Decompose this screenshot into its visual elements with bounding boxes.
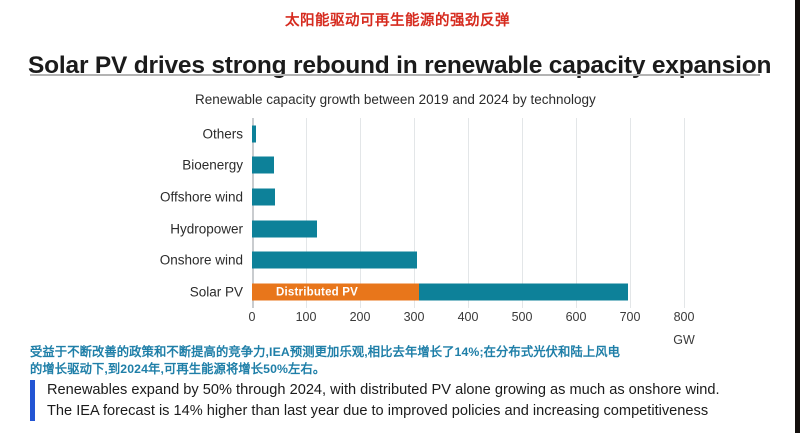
bar-segment-label: Distributed PV — [276, 286, 358, 298]
chinese-note: 受益于不断改善的政策和不断提高的竞争力,IEA预测更加乐观,相比去年增长了14%… — [30, 344, 620, 378]
callout-line-2: The IEA forecast is 14% higher than last… — [47, 401, 770, 422]
bar-segment-main[interactable] — [252, 220, 317, 237]
x-tick-label-300: 300 — [404, 310, 425, 324]
chart-plot-area: OthersBioenergyOffshore windHydropowerOn… — [252, 118, 684, 308]
chinese-headline: 太阳能驱动可再生能源的强劲反弹 — [0, 12, 795, 30]
category-label-onshore-wind: Onshore wind — [160, 253, 243, 268]
x-tick-label-100: 100 — [296, 310, 317, 324]
x-tick-label-500: 500 — [512, 310, 533, 324]
x-tick-label-400: 400 — [458, 310, 479, 324]
bar-segment-main[interactable] — [252, 125, 256, 142]
category-label-offshore-wind: Offshore wind — [160, 190, 243, 205]
bar-hydropower[interactable] — [252, 220, 317, 237]
title-divider — [30, 74, 760, 76]
bar-segment-main[interactable] — [419, 284, 628, 301]
bar-row: Onshore wind — [252, 245, 684, 277]
x-tick-label-200: 200 — [350, 310, 371, 324]
bar-rows: OthersBioenergyOffshore windHydropowerOn… — [252, 118, 684, 308]
x-tick-label-0: 0 — [249, 310, 256, 324]
x-axis-ticks: 0100200300400500600700800 — [252, 310, 684, 330]
bar-offshore-wind[interactable] — [252, 189, 275, 206]
bar-row: Solar PVDistributed PV — [252, 276, 684, 308]
gridline-800 — [684, 118, 685, 308]
chart-subtitle: Renewable capacity growth between 2019 a… — [195, 92, 596, 107]
callout-line-1: Renewables expand by 50% through 2024, w… — [47, 380, 770, 401]
category-label-bioenergy: Bioenergy — [182, 158, 243, 173]
bar-segment-main[interactable] — [252, 189, 275, 206]
bar-others[interactable] — [252, 125, 256, 142]
bar-row: Hydropower — [252, 213, 684, 245]
bar-bioenergy[interactable] — [252, 157, 274, 174]
chart: Renewable capacity growth between 2019 a… — [0, 86, 795, 336]
bar-row: Bioenergy — [252, 150, 684, 182]
bar-segment-main[interactable] — [252, 252, 417, 269]
bar-solar-pv[interactable]: Distributed PV — [252, 284, 628, 301]
category-label-solar-pv: Solar PV — [190, 285, 243, 300]
x-tick-label-600: 600 — [566, 310, 587, 324]
x-tick-label-800: 800 — [674, 310, 695, 324]
x-axis-unit-label: GW — [673, 333, 695, 347]
bar-segment-main[interactable] — [252, 157, 274, 174]
bar-onshore-wind[interactable] — [252, 252, 417, 269]
bar-segment-distributed-pv[interactable]: Distributed PV — [252, 284, 419, 301]
x-tick-label-700: 700 — [620, 310, 641, 324]
category-label-hydropower: Hydropower — [170, 221, 243, 236]
category-label-others: Others — [202, 126, 243, 141]
bar-row: Offshore wind — [252, 181, 684, 213]
bar-row: Others — [252, 118, 684, 150]
page-title: Solar PV drives strong rebound in renewa… — [28, 52, 771, 80]
key-takeaway-callout: Renewables expand by 50% through 2024, w… — [30, 380, 770, 421]
